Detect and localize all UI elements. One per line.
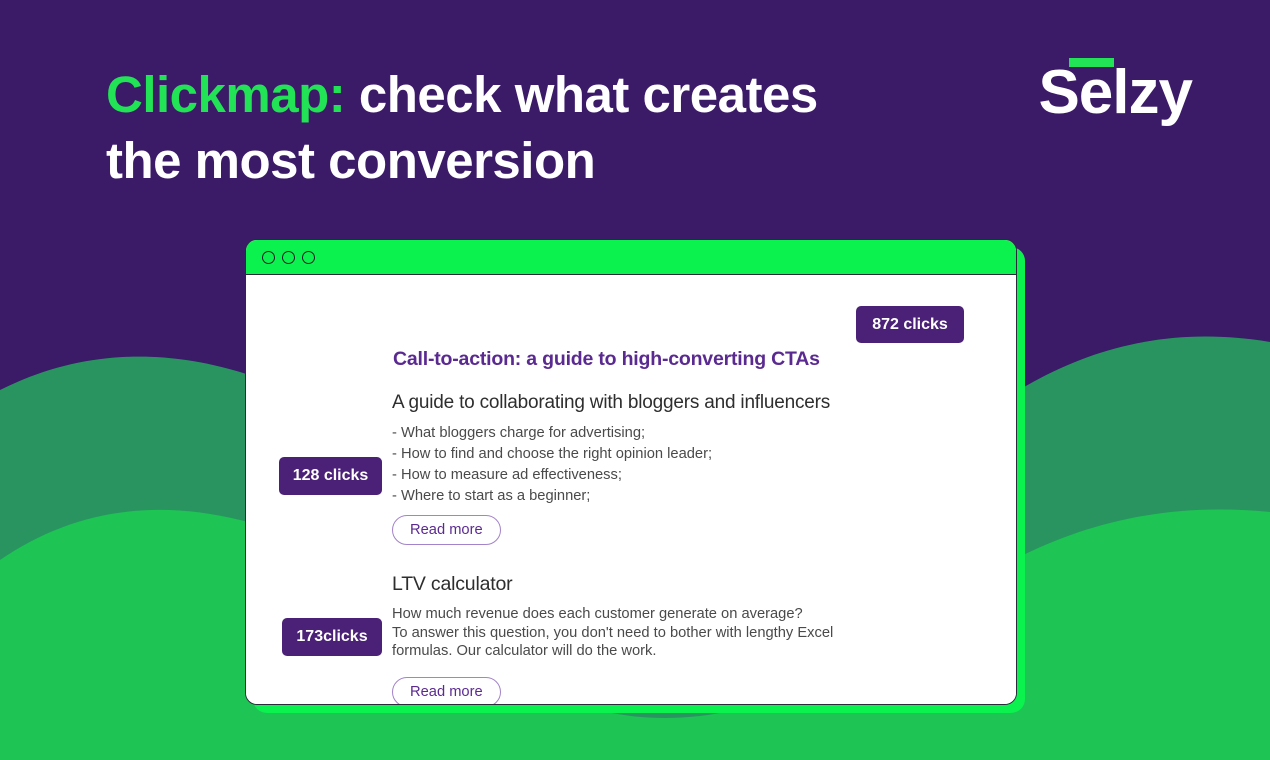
list-item: - How to measure ad effectiveness; — [392, 465, 812, 486]
ltv-body-line-2: To answer this question, you don't need … — [392, 624, 882, 643]
logo-letter-e: e — [1079, 58, 1112, 127]
article-bullet-list: - What bloggers charge for advertising; … — [392, 423, 812, 507]
ltv-body-line-3: formulas. Our calculator will do the wor… — [392, 642, 882, 661]
clicks-badge-872[interactable]: 872 clicks — [856, 306, 964, 343]
read-more-button-ltv[interactable]: Read more — [392, 677, 501, 705]
ltv-body-line-1: How much revenue does each customer gene… — [392, 605, 882, 624]
window-dot-3-icon[interactable] — [302, 251, 315, 264]
poster-canvas: Clickmap: check what creates the most co… — [0, 0, 1270, 760]
clicks-badge-128[interactable]: 128 clicks — [279, 457, 382, 495]
headline-accent: Clickmap: — [106, 66, 345, 123]
macron-bar-icon — [1069, 58, 1114, 67]
list-item: - How to find and choose the right opini… — [392, 444, 812, 465]
clicks-badge-173[interactable]: 173clicks — [282, 618, 382, 656]
window-dot-2-icon[interactable] — [282, 251, 295, 264]
browser-titlebar — [246, 240, 1016, 275]
list-item: - What bloggers charge for advertising; — [392, 423, 812, 444]
article-title: Call-to-action: a guide to high-converti… — [393, 347, 823, 373]
page-headline: Clickmap: check what creates the most co… — [106, 62, 906, 195]
logo-prefix: S — [1038, 58, 1078, 127]
read-more-button-article[interactable]: Read more — [392, 515, 501, 545]
article-subtitle: A guide to collaborating with bloggers a… — [392, 392, 892, 414]
selzy-logo: Selzy — [1038, 62, 1192, 124]
window-dot-1-icon[interactable] — [262, 251, 275, 264]
ltv-calculator-title: LTV calculator — [392, 573, 512, 596]
logo-suffix: lzy — [1112, 58, 1192, 127]
list-item: - Where to start as a beginner; — [392, 486, 812, 507]
ltv-calculator-body: How much revenue does each customer gene… — [392, 605, 882, 661]
